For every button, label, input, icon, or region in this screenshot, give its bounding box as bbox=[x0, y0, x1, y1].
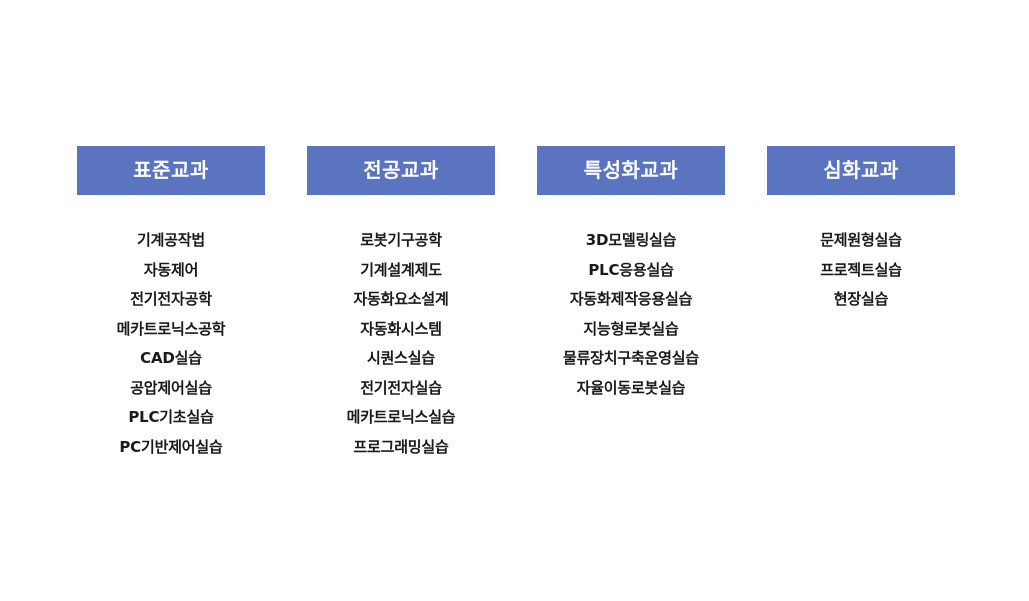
curriculum-board: 표준교과 기계공작법 자동제어 전기전자공학 메카트로닉스공학 CAD실습 공압… bbox=[0, 0, 1029, 601]
curriculum-column-standard: 표준교과 기계공작법 자동제어 전기전자공학 메카트로닉스공학 CAD실습 공압… bbox=[77, 146, 265, 462]
list-item: 프로그래밍실습 bbox=[307, 433, 495, 463]
list-item: 3D모델링실습 bbox=[537, 226, 725, 256]
list-item: 현장실습 bbox=[767, 285, 955, 315]
list-item: 자율이동로봇실습 bbox=[537, 374, 725, 404]
list-item: PC기반제어실습 bbox=[77, 433, 265, 463]
curriculum-columns: 표준교과 기계공작법 자동제어 전기전자공학 메카트로닉스공학 CAD실습 공압… bbox=[77, 146, 955, 462]
list-item: 기계설계제도 bbox=[307, 256, 495, 286]
curriculum-column-advanced: 심화교과 문제원형실습 프로젝트실습 현장실습 bbox=[767, 146, 955, 315]
course-list-specialized: 3D모델링실습 PLC응용실습 자동화제작응용실습 지능형로봇실습 물류장치구축… bbox=[537, 226, 725, 403]
list-item: 자동제어 bbox=[77, 256, 265, 286]
list-item: 전기전자실습 bbox=[307, 374, 495, 404]
course-list-standard: 기계공작법 자동제어 전기전자공학 메카트로닉스공학 CAD실습 공압제어실습 … bbox=[77, 226, 265, 462]
list-item: 지능형로봇실습 bbox=[537, 315, 725, 345]
list-item: 로봇기구공학 bbox=[307, 226, 495, 256]
list-item: 메카트로닉스실습 bbox=[307, 403, 495, 433]
list-item: 자동화제작응용실습 bbox=[537, 285, 725, 315]
list-item: 문제원형실습 bbox=[767, 226, 955, 256]
column-header-advanced[interactable]: 심화교과 bbox=[767, 146, 955, 195]
list-item: PLC응용실습 bbox=[537, 256, 725, 286]
curriculum-column-specialized: 특성화교과 3D모델링실습 PLC응용실습 자동화제작응용실습 지능형로봇실습 … bbox=[537, 146, 725, 403]
course-list-advanced: 문제원형실습 프로젝트실습 현장실습 bbox=[767, 226, 955, 315]
list-item: 기계공작법 bbox=[77, 226, 265, 256]
list-item: 자동화시스템 bbox=[307, 315, 495, 345]
column-header-standard[interactable]: 표준교과 bbox=[77, 146, 265, 195]
list-item: 프로젝트실습 bbox=[767, 256, 955, 286]
list-item: 공압제어실습 bbox=[77, 374, 265, 404]
course-list-major: 로봇기구공학 기계설계제도 자동화요소설계 자동화시스템 시퀀스실습 전기전자실… bbox=[307, 226, 495, 462]
curriculum-column-major: 전공교과 로봇기구공학 기계설계제도 자동화요소설계 자동화시스템 시퀀스실습 … bbox=[307, 146, 495, 462]
list-item: 시퀀스실습 bbox=[307, 344, 495, 374]
list-item: 메카트로닉스공학 bbox=[77, 315, 265, 345]
column-header-major[interactable]: 전공교과 bbox=[307, 146, 495, 195]
list-item: 자동화요소설계 bbox=[307, 285, 495, 315]
list-item: PLC기초실습 bbox=[77, 403, 265, 433]
list-item: 전기전자공학 bbox=[77, 285, 265, 315]
column-header-specialized[interactable]: 특성화교과 bbox=[537, 146, 725, 195]
list-item: 물류장치구축운영실습 bbox=[537, 344, 725, 374]
list-item: CAD실습 bbox=[77, 344, 265, 374]
